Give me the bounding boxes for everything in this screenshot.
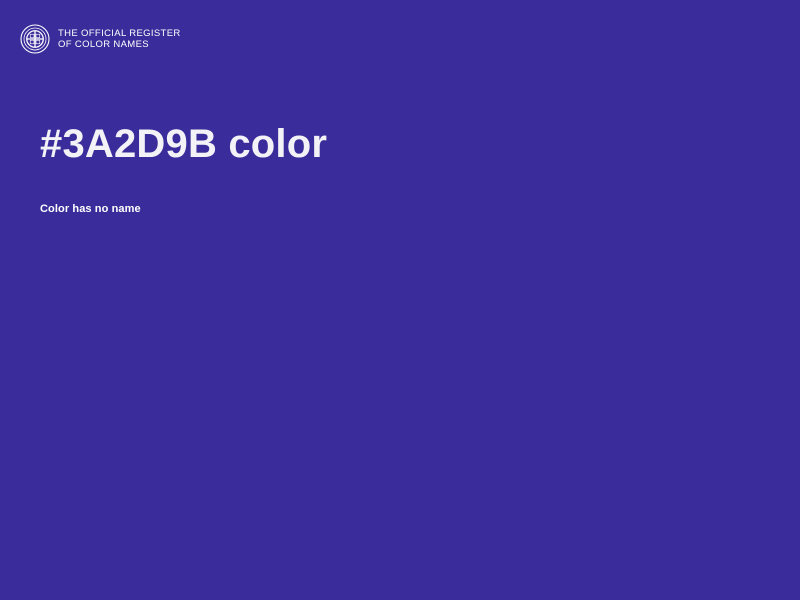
brand-wordmark: THE OFFICIAL REGISTER OF COLOR NAMES	[58, 28, 181, 51]
brand-line-2: OF COLOR NAMES	[58, 39, 181, 51]
brand-line-1: THE OFFICIAL REGISTER	[58, 28, 181, 40]
register-seal-icon	[20, 24, 50, 54]
page-title: #3A2D9B color	[40, 118, 760, 170]
site-header[interactable]: THE OFFICIAL REGISTER OF COLOR NAMES	[20, 24, 181, 54]
color-detail-page: THE OFFICIAL REGISTER OF COLOR NAMES #3A…	[0, 0, 800, 600]
color-name-status: Color has no name	[40, 170, 760, 216]
color-info: #3A2D9B color Color has no name	[40, 118, 760, 216]
